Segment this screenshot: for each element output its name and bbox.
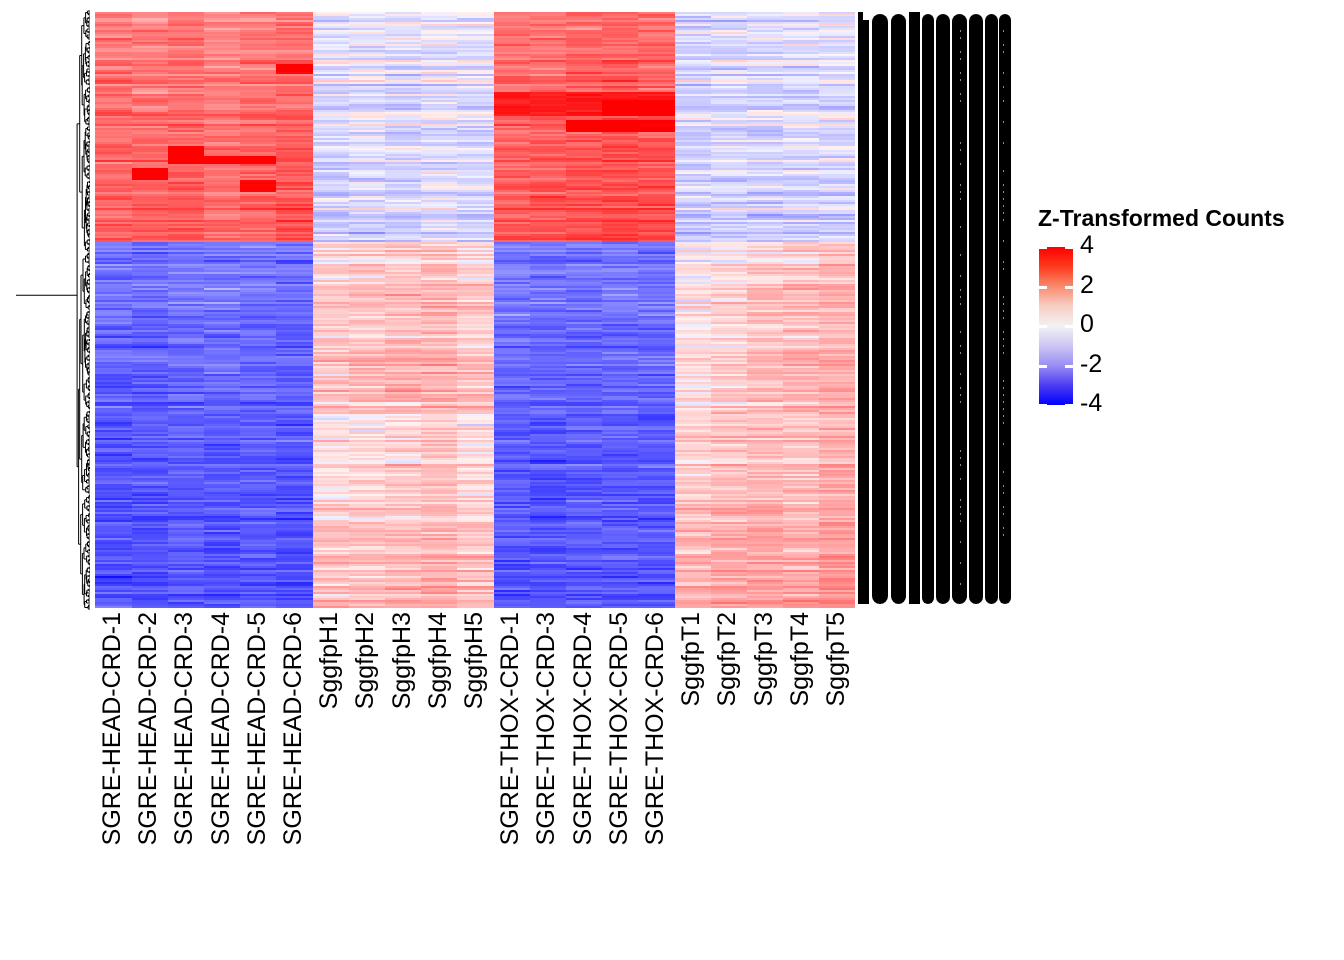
column-axis-labels: SGRE-HEAD-CRD-1SGRE-HEAD-CRD-2SGRE-HEAD-… xyxy=(95,612,855,952)
colorbar-tick-right xyxy=(1065,246,1073,249)
column-label-sggfpt5: SggfpT5 xyxy=(824,612,849,707)
column-label-sgre-thox-crd-4: SGRE-THOX-CRD-4 xyxy=(571,612,596,845)
column-label-sgre-head-crd-2: SGRE-HEAD-CRD-2 xyxy=(136,612,161,845)
heatmap-panel[interactable] xyxy=(95,12,855,608)
column-label-sgre-head-crd-1: SGRE-HEAD-CRD-1 xyxy=(100,612,125,845)
colorbar-tick-left xyxy=(1039,246,1047,249)
column-label-sggfph2: SggfpH2 xyxy=(353,612,378,709)
figure-root: SGRE-HEAD-CRD-1SGRE-HEAD-CRD-2SGRE-HEAD-… xyxy=(0,0,1344,960)
column-label-sggfph5: SggfpH5 xyxy=(462,612,487,709)
colorbar-tick-right xyxy=(1065,404,1073,407)
colorbar-legend: Z-Transformed Counts 420-2-4 xyxy=(1030,205,1330,415)
column-label-sggfph1: SggfpH1 xyxy=(317,612,342,709)
row-label-strips xyxy=(856,10,1014,610)
column-label-sgre-thox-crd-1: SGRE-THOX-CRD-1 xyxy=(498,612,523,845)
dendrogram-svg xyxy=(16,10,90,610)
column-label-sgre-thox-crd-5: SGRE-THOX-CRD-5 xyxy=(607,612,632,845)
colorbar-tick-left xyxy=(1039,286,1047,289)
colorbar-tick-left xyxy=(1039,404,1047,407)
column-label-sggfph4: SggfpH4 xyxy=(426,612,451,709)
column-label-sggfpt4: SggfpT4 xyxy=(788,612,813,707)
legend-title: Z-Transformed Counts xyxy=(1038,205,1285,232)
colorbar-tick-right xyxy=(1065,286,1073,289)
colorbar-tick-label: 2 xyxy=(1080,273,1094,298)
column-label-sggfpt3: SggfpT3 xyxy=(752,612,777,707)
column-label-sgre-head-crd-5: SGRE-HEAD-CRD-5 xyxy=(245,612,270,845)
colorbar-tick-right xyxy=(1065,365,1073,368)
colorbar-tick-label: 0 xyxy=(1080,312,1094,337)
column-label-sgre-head-crd-4: SGRE-HEAD-CRD-4 xyxy=(209,612,234,845)
colorbar-tick-label: -4 xyxy=(1080,391,1102,416)
colorbar-tick-label: 4 xyxy=(1080,233,1094,258)
column-label-sgre-thox-crd-6: SGRE-THOX-CRD-6 xyxy=(643,612,668,845)
row-dendrogram xyxy=(16,10,90,610)
colorbar-tick-label: -2 xyxy=(1080,352,1102,377)
column-label-sggfpt1: SggfpT1 xyxy=(679,612,704,707)
colorbar-tick-left xyxy=(1039,365,1047,368)
colorbar-tick-right xyxy=(1065,325,1073,328)
row-label-strip-canvas xyxy=(856,10,1014,610)
column-label-sgre-head-crd-3: SGRE-HEAD-CRD-3 xyxy=(172,612,197,845)
column-label-sggfpt2: SggfpT2 xyxy=(715,612,740,707)
column-label-sgre-head-crd-6: SGRE-HEAD-CRD-6 xyxy=(281,612,306,845)
colorbar-tick-left xyxy=(1039,325,1047,328)
column-label-sggfph3: SggfpH3 xyxy=(390,612,415,709)
heatmap-canvas[interactable] xyxy=(95,12,855,608)
column-label-sgre-thox-crd-3: SGRE-THOX-CRD-3 xyxy=(534,612,559,845)
